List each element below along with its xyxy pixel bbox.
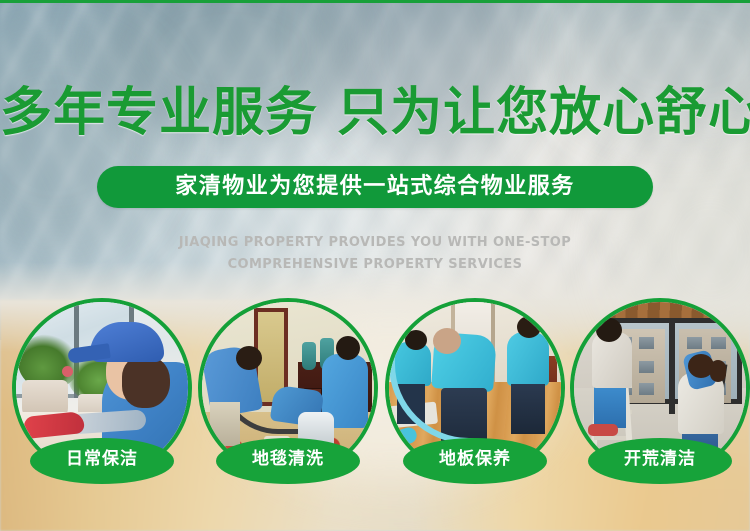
promo-banner: 多年专业服务 只为让您放心舒心 家清物业为您提供一站式综合物业服务 JIAQIN… xyxy=(0,0,750,531)
service-label-text: 开荒清洁 xyxy=(624,451,696,468)
service-item-floor-maintenance[interactable]: 地板保养 xyxy=(385,298,565,478)
service-label-badge: 开荒清洁 xyxy=(588,438,732,484)
service-label-badge: 地板保养 xyxy=(403,438,547,484)
service-label-text: 地板保养 xyxy=(439,451,511,468)
service-circle-row: 日常保洁 地毯清洗 xyxy=(0,298,750,498)
top-green-rule xyxy=(0,0,750,3)
subheadline-text: 家清物业为您提供一站式综合物业服务 xyxy=(175,176,575,198)
service-item-daily-cleaning[interactable]: 日常保洁 xyxy=(12,298,192,478)
service-label-badge: 地毯清洗 xyxy=(216,438,360,484)
subheadline-pill: 家清物业为您提供一站式综合物业服务 xyxy=(97,166,653,208)
english-caption: JIAQING PROPERTY PROVIDES YOU WITH ONE-S… xyxy=(0,232,750,276)
service-label-badge: 日常保洁 xyxy=(30,438,174,484)
service-item-carpet-washing[interactable]: 地毯清洗 xyxy=(198,298,378,478)
service-label-text: 地毯清洗 xyxy=(252,451,324,468)
english-caption-line-2: COMPREHENSIVE PROPERTY SERVICES xyxy=(0,254,750,276)
service-label-text: 日常保洁 xyxy=(66,451,138,468)
headline: 多年专业服务 只为让您放心舒心 xyxy=(0,84,750,142)
service-item-rough-cleaning[interactable]: 开荒清洁 xyxy=(570,298,750,478)
english-caption-line-1: JIAQING PROPERTY PROVIDES YOU WITH ONE-S… xyxy=(0,232,750,254)
